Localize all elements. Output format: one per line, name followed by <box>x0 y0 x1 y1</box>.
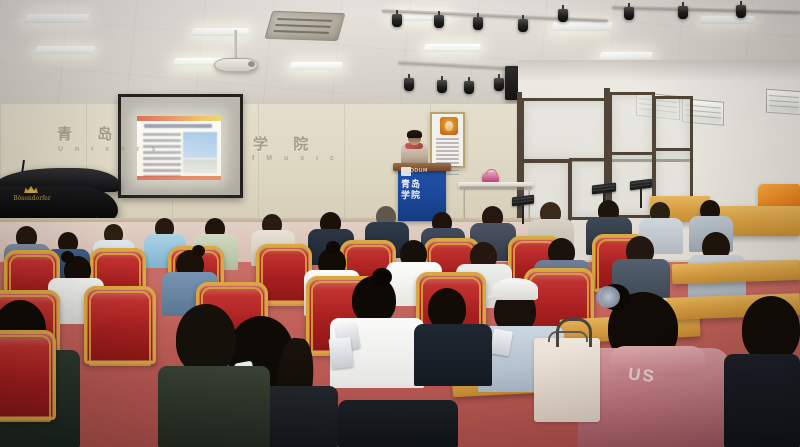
fluorescent-light <box>423 44 482 52</box>
stage-spotlight <box>624 3 634 21</box>
hair-bun <box>326 241 340 254</box>
audience-body <box>414 324 492 386</box>
fluorescent-light <box>289 62 344 70</box>
stage-spotlight <box>678 2 688 20</box>
fluorescent-light <box>190 28 249 36</box>
air-conditioning-vent <box>264 11 345 42</box>
projector-mount-pole <box>234 30 237 60</box>
white-baseball-cap <box>492 278 538 300</box>
audience-head <box>742 296 800 362</box>
stage-spotlight <box>473 13 483 31</box>
projector-lens <box>248 61 255 67</box>
presenter-hair <box>407 130 422 138</box>
tote-bag[interactable] <box>534 338 600 422</box>
stage-spotlight <box>434 11 444 29</box>
table-leg <box>463 189 465 219</box>
clerestory-window <box>766 89 800 116</box>
lecture-hall-photo: 青 岛 U n i v e r s 学 院 f M u s i c Bösend… <box>0 0 800 447</box>
stage-spotlight <box>494 74 504 92</box>
wall-sign-latin-left: U n i v e r s <box>58 146 160 153</box>
wall-sign-chinese-right: 学 院 <box>253 133 318 154</box>
right-wall-shadow <box>518 60 800 82</box>
podium-logo-text: QDUM <box>410 167 438 176</box>
stage-spotlight <box>558 5 568 23</box>
red-banquet-chair[interactable] <box>84 286 156 364</box>
hair-scrunchie <box>596 286 620 308</box>
audience-body <box>338 400 458 447</box>
stage-spotlight <box>404 74 414 92</box>
side-table-apron <box>460 186 532 190</box>
hair-bun <box>192 245 205 257</box>
wall-sign-latin-right: f M u s i c <box>252 155 339 162</box>
fluorescent-light <box>34 46 96 54</box>
audience-body <box>158 366 270 447</box>
stage-spotlight <box>437 76 447 94</box>
audience-body <box>724 354 800 447</box>
fluorescent-light <box>699 16 755 24</box>
glass-partition-upper <box>521 98 611 162</box>
stage-spotlight <box>464 77 474 95</box>
red-banquet-chair[interactable] <box>0 330 56 420</box>
music-stand <box>630 180 652 208</box>
piano-brand-text: Bösendorfer <box>12 192 52 205</box>
stage-spotlight <box>736 1 746 19</box>
framed-wall-poster <box>430 112 465 168</box>
stage-spotlight <box>518 15 528 33</box>
fluorescent-light <box>24 14 90 23</box>
stage-spotlight <box>392 10 402 28</box>
fluorescent-light <box>599 52 653 60</box>
hair-bun <box>61 251 74 263</box>
wall-sign-chinese-left: 青 岛 <box>57 123 122 144</box>
podium-banner-chinese: 青岛学院 <box>401 180 443 202</box>
fluorescent-light <box>551 22 614 31</box>
smartphone[interactable] <box>328 337 353 369</box>
tote-bag-strap <box>556 318 592 347</box>
poster-portrait-image <box>440 117 458 135</box>
hair-bun <box>372 268 392 286</box>
audience-head <box>176 304 236 374</box>
